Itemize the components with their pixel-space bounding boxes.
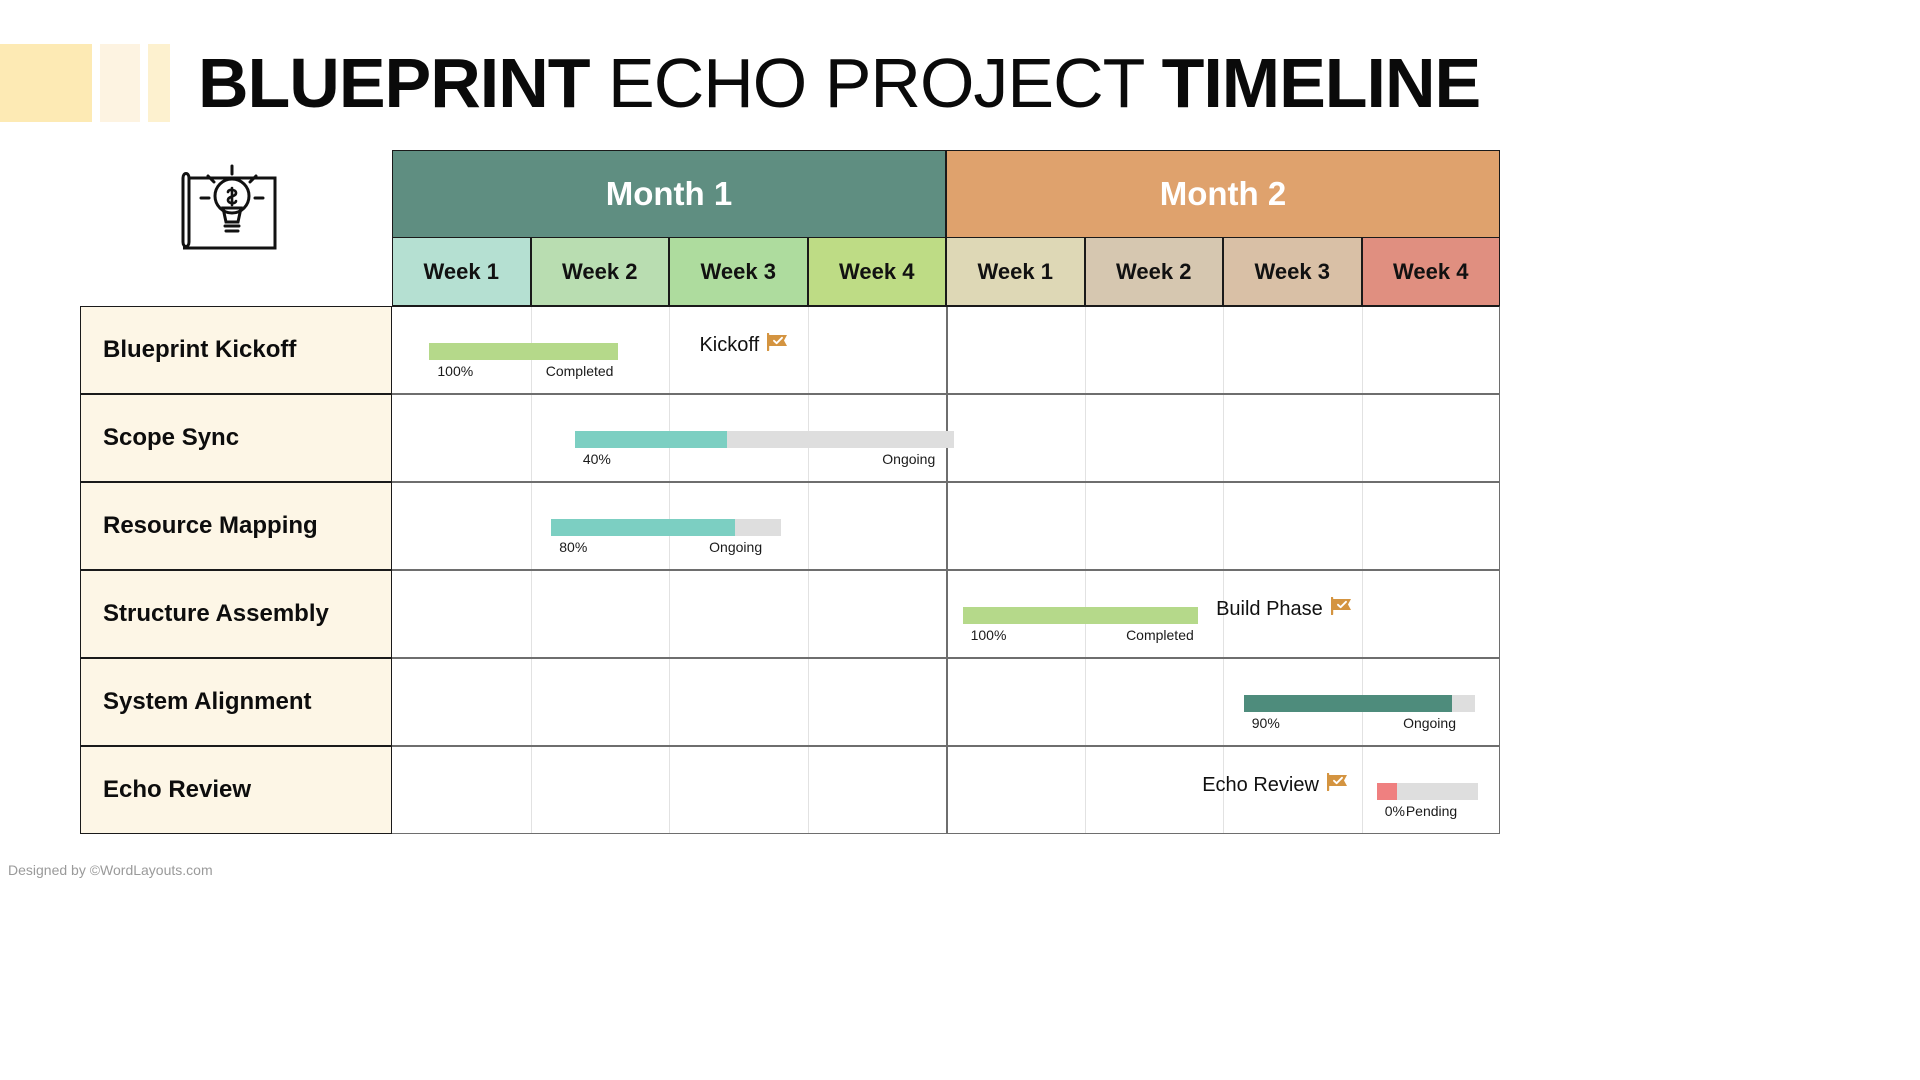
gantt-rows: Blueprint Kickoff100%CompletedKickoffSco… bbox=[80, 306, 1505, 834]
gantt-grid-cells: 40%Ongoing bbox=[392, 394, 1500, 482]
task-name-cell[interactable]: System Alignment bbox=[80, 658, 392, 746]
week-header-cell-0: Week 1 bbox=[392, 238, 531, 306]
week-header-cell-7: Week 4 bbox=[1362, 238, 1501, 306]
title-part-3: TIMELINE bbox=[1162, 44, 1481, 122]
grid-line bbox=[1085, 747, 1086, 833]
task-status-label: Ongoing bbox=[709, 539, 762, 555]
grid-line bbox=[669, 571, 670, 657]
flag-check-icon bbox=[767, 333, 789, 357]
task-bar-track[interactable] bbox=[551, 519, 781, 536]
milestone-marker[interactable]: Kickoff bbox=[699, 333, 789, 357]
week-label: Week 4 bbox=[1393, 259, 1468, 285]
title-part-1: BLUEPRINT bbox=[198, 44, 590, 122]
title-part-2: ECHO PROJECT bbox=[590, 44, 1162, 122]
grid-line bbox=[531, 395, 532, 481]
grid-line bbox=[946, 659, 948, 745]
page-header: BLUEPRINT ECHO PROJECT TIMELINE bbox=[0, 35, 1920, 130]
grid-line bbox=[669, 307, 670, 393]
week-header-cell-1: Week 2 bbox=[531, 238, 670, 306]
task-percent-label: 100% bbox=[437, 363, 473, 379]
grid-line bbox=[1223, 395, 1224, 481]
week-header-cell-4: Week 1 bbox=[946, 238, 1085, 306]
grid-line bbox=[808, 659, 809, 745]
gantt-row: Blueprint Kickoff100%CompletedKickoff bbox=[80, 306, 1505, 394]
grid-line bbox=[1085, 307, 1086, 393]
task-status-label: Completed bbox=[546, 363, 614, 379]
week-label: Week 3 bbox=[701, 259, 776, 285]
task-name-cell[interactable]: Echo Review bbox=[80, 746, 392, 834]
week-label: Week 1 bbox=[424, 259, 499, 285]
grid-line bbox=[808, 483, 809, 569]
gantt-chart: Month 1 Month 2 Week 1 Week 2 Week 3 Wee… bbox=[80, 150, 1505, 830]
month-header-2: Month 2 bbox=[946, 150, 1500, 238]
flag-check-icon bbox=[1327, 773, 1349, 797]
grid-line bbox=[669, 747, 670, 833]
gantt-grid-cells: 90%Ongoing bbox=[392, 658, 1500, 746]
task-status-label: Ongoing bbox=[1403, 715, 1456, 731]
grid-line bbox=[808, 307, 809, 393]
grid-line bbox=[531, 571, 532, 657]
gantt-grid-cells: 0%PendingEcho Review bbox=[392, 746, 1500, 834]
task-bar-fill bbox=[1244, 695, 1452, 712]
task-name-label: Scope Sync bbox=[103, 424, 239, 452]
task-bar-track[interactable] bbox=[1377, 783, 1478, 800]
milestone-marker[interactable]: Echo Review bbox=[1202, 773, 1349, 797]
task-name-label: Echo Review bbox=[103, 776, 251, 804]
task-name-label: Resource Mapping bbox=[103, 512, 318, 540]
grid-line bbox=[946, 571, 948, 657]
grid-line bbox=[1362, 307, 1363, 393]
grid-line bbox=[946, 747, 948, 833]
task-percent-label: 80% bbox=[559, 539, 587, 555]
grid-line bbox=[1362, 747, 1363, 833]
grid-line bbox=[1362, 395, 1363, 481]
month-header-row: Month 1 Month 2 bbox=[80, 150, 1500, 238]
task-bar-fill bbox=[1377, 783, 1397, 800]
week-header-row: Week 1 Week 2 Week 3 Week 4 Week 1 Week … bbox=[80, 238, 1500, 306]
footer-credit: Designed by ©WordLayouts.com bbox=[8, 862, 213, 878]
week-label: Week 2 bbox=[1116, 259, 1191, 285]
week-label: Week 1 bbox=[978, 259, 1053, 285]
grid-line bbox=[531, 483, 532, 569]
week-label: Week 3 bbox=[1255, 259, 1330, 285]
milestone-label: Echo Review bbox=[1202, 774, 1319, 797]
grid-line bbox=[808, 571, 809, 657]
week-header-cell-6: Week 3 bbox=[1223, 238, 1362, 306]
task-status-label: Completed bbox=[1126, 627, 1194, 643]
task-name-cell[interactable]: Blueprint Kickoff bbox=[80, 306, 392, 394]
task-percent-label: 90% bbox=[1252, 715, 1280, 731]
grid-line bbox=[1362, 483, 1363, 569]
task-bar-fill bbox=[551, 519, 735, 536]
gantt-grid-cells: 100%CompletedBuild Phase bbox=[392, 570, 1500, 658]
grid-line bbox=[531, 659, 532, 745]
grid-line bbox=[1085, 483, 1086, 569]
month-header-1: Month 1 bbox=[392, 150, 946, 238]
task-bar-fill bbox=[429, 343, 617, 360]
grid-line bbox=[1223, 307, 1224, 393]
week-label: Week 2 bbox=[562, 259, 637, 285]
milestone-label: Kickoff bbox=[699, 334, 759, 357]
flag-check-icon bbox=[1331, 597, 1353, 621]
gantt-row: Echo Review0%PendingEcho Review bbox=[80, 746, 1505, 834]
task-bar-track[interactable] bbox=[575, 431, 954, 448]
grid-line bbox=[531, 747, 532, 833]
task-percent-label: 0% bbox=[1385, 803, 1405, 819]
milestone-marker[interactable]: Build Phase bbox=[1216, 597, 1353, 621]
task-percent-label: 40% bbox=[583, 451, 611, 467]
task-name-label: Structure Assembly bbox=[103, 600, 329, 628]
gantt-row: System Alignment90%Ongoing bbox=[80, 658, 1505, 746]
task-status-label: Ongoing bbox=[882, 451, 935, 467]
week-header-cell-5: Week 2 bbox=[1085, 238, 1224, 306]
week-label: Week 4 bbox=[839, 259, 914, 285]
task-bar-fill bbox=[963, 607, 1198, 624]
gantt-row: Resource Mapping80%Ongoing bbox=[80, 482, 1505, 570]
task-bar-track[interactable] bbox=[963, 607, 1198, 624]
week-header-cell-3: Week 4 bbox=[808, 238, 947, 306]
gantt-grid-cells: 80%Ongoing bbox=[392, 482, 1500, 570]
task-bar-track[interactable] bbox=[1244, 695, 1475, 712]
gantt-row: Scope Sync40%Ongoing bbox=[80, 394, 1505, 482]
month-label: Month 2 bbox=[1160, 175, 1286, 213]
task-name-label: Blueprint Kickoff bbox=[103, 336, 296, 364]
grid-line bbox=[1085, 659, 1086, 745]
grid-line bbox=[669, 659, 670, 745]
grid-line bbox=[946, 483, 948, 569]
task-status-label: Pending bbox=[1406, 803, 1457, 819]
task-name-cell[interactable]: Resource Mapping bbox=[80, 482, 392, 570]
task-bar-fill bbox=[575, 431, 727, 448]
timeline-page: BLUEPRINT ECHO PROJECT TIMELINE Month 1 … bbox=[0, 0, 1920, 1080]
decor-bar-1 bbox=[0, 44, 92, 122]
milestone-label: Build Phase bbox=[1216, 598, 1323, 621]
grid-line bbox=[946, 307, 948, 393]
task-bar-track[interactable] bbox=[429, 343, 617, 360]
grid-line bbox=[1362, 571, 1363, 657]
grid-line bbox=[1223, 483, 1224, 569]
decor-bar-3 bbox=[148, 44, 170, 122]
task-name-label: System Alignment bbox=[103, 688, 312, 716]
week-header-cell-2: Week 3 bbox=[669, 238, 808, 306]
decor-bar-2 bbox=[100, 44, 140, 122]
grid-line bbox=[1085, 395, 1086, 481]
grid-line bbox=[1223, 659, 1224, 745]
task-percent-label: 100% bbox=[971, 627, 1007, 643]
gantt-row: Structure Assembly100%CompletedBuild Pha… bbox=[80, 570, 1505, 658]
page-title: BLUEPRINT ECHO PROJECT TIMELINE bbox=[198, 48, 1480, 118]
month-label: Month 1 bbox=[606, 175, 732, 213]
gantt-grid-cells: 100%CompletedKickoff bbox=[392, 306, 1500, 394]
task-name-cell[interactable]: Structure Assembly bbox=[80, 570, 392, 658]
task-name-cell[interactable]: Scope Sync bbox=[80, 394, 392, 482]
grid-line bbox=[808, 747, 809, 833]
